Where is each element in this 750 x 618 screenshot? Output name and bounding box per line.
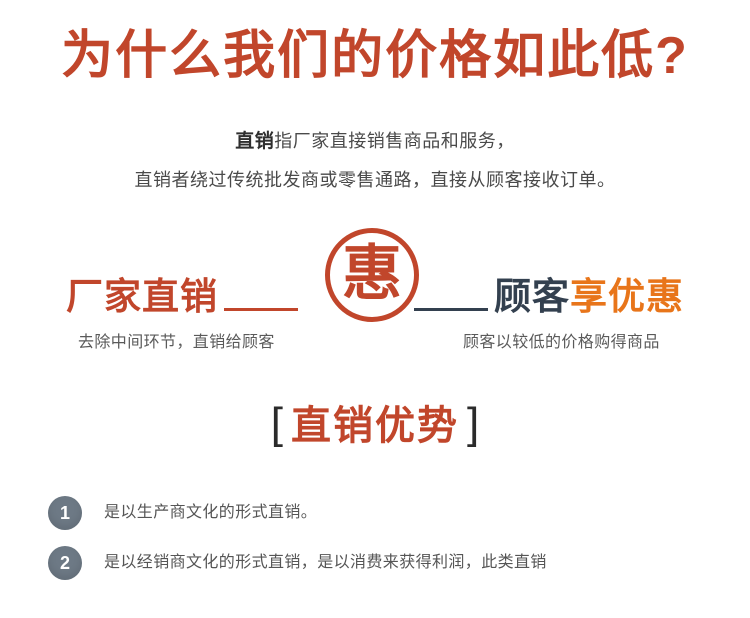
page-title: 为什么我们的价格如此低? — [0, 26, 750, 86]
advantages-list: 1 是以生产商文化的形式直销。 2 是以经销商文化的形式直销，是以消费来获得利润… — [48, 488, 728, 588]
intro-line-1: 直销指厂家直接销售商品和服务， — [0, 122, 750, 161]
list-item-number-badge: 2 — [48, 546, 82, 580]
intro-keyword: 直销 — [235, 131, 274, 152]
list-item-text: 是以经销商文化的形式直销，是以消费来获得利润，此类直销 — [104, 550, 547, 576]
flow-right-label-customer: 顾客 — [494, 276, 570, 317]
section-heading-text: 直销优势 — [291, 404, 459, 448]
list-item-text: 是以生产商文化的形式直销。 — [104, 500, 317, 526]
flow-right-label-benefit: 享优惠 — [570, 276, 684, 317]
intro-line-1-rest: 指厂家直接销售商品和服务， — [274, 131, 515, 151]
section-heading: [直销优势] — [0, 398, 750, 454]
flow-right-caption: 顾客以较低的价格购得商品 — [463, 330, 660, 356]
flow-left-label: 厂家直销 — [66, 272, 218, 322]
list-item-number-badge: 1 — [48, 496, 82, 530]
intro-line-2: 直销者绕过传统批发商或零售通路，直接从顾客接收订单。 — [0, 161, 750, 199]
flow-left-caption: 去除中间环节，直销给顾客 — [78, 330, 275, 356]
flow-diagram: 厂家直销 顾客享优惠 惠 — [0, 228, 750, 328]
flow-connector-right — [414, 308, 488, 311]
intro-paragraph: 直销指厂家直接销售商品和服务， 直销者绕过传统批发商或零售通路，直接从顾客接收订… — [0, 122, 750, 199]
list-item: 1 是以生产商文化的形式直销。 — [48, 488, 728, 538]
promo-page: 为什么我们的价格如此低? 直销指厂家直接销售商品和服务， 直销者绕过传统批发商或… — [0, 0, 750, 618]
bracket-left: [ — [271, 399, 283, 448]
flow-captions: 去除中间环节，直销给顾客 顾客以较低的价格购得商品 — [0, 330, 750, 358]
bracket-right: ] — [467, 399, 479, 448]
flow-right-label: 顾客享优惠 — [494, 272, 684, 322]
list-item: 2 是以经销商文化的形式直销，是以消费来获得利润，此类直销 — [48, 538, 728, 588]
flow-connector-left — [224, 308, 298, 311]
benefit-seal-char: 惠 — [342, 244, 402, 304]
benefit-seal-icon: 惠 — [325, 228, 419, 322]
